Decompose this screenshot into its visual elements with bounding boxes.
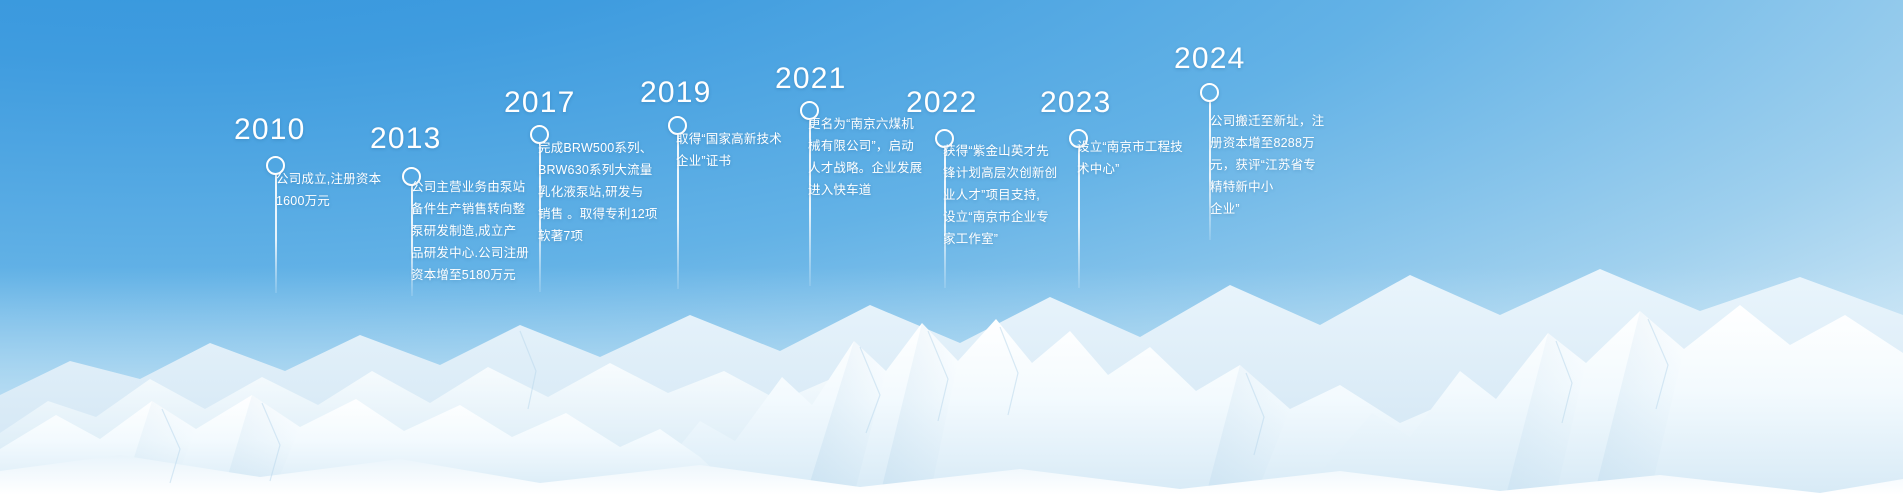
timeline-year-2023: 2023 bbox=[1040, 88, 1112, 118]
timeline-year-2022: 2022 bbox=[906, 88, 978, 118]
timeline-year-2019: 2019 bbox=[640, 78, 712, 108]
timeline-year-2010: 2010 bbox=[234, 115, 306, 145]
timeline-year-2021: 2021 bbox=[775, 64, 847, 94]
timeline-dot-2024[interactable] bbox=[1200, 83, 1219, 102]
timeline-description-2013: 公司主营业务由泵站 备件生产销售转向整 泵研发制造,成立产 品研发中心.公司注册… bbox=[411, 176, 533, 286]
timeline-description-2021: 更名为“南京六煤机 械有限公司”，启动 人才战略。企业发展 进入快车道 bbox=[808, 113, 936, 201]
timeline-track: 2010 公司成立,注册资本 1600万元 2013 公司主营业务由泵站 备件生… bbox=[0, 0, 1903, 495]
timeline-description-2023: 设立“南京市工程技 术中心” bbox=[1077, 136, 1201, 180]
timeline-description-2019: 取得“国家高新技术 企业”证书 bbox=[676, 128, 798, 172]
timeline-year-2024: 2024 bbox=[1174, 44, 1246, 74]
timeline-description-2024: 公司搬迁至新址，注 册资本增至8288万 元，获评“江苏省专 精特新中小 企业” bbox=[1210, 110, 1336, 220]
timeline-year-2013: 2013 bbox=[370, 124, 442, 154]
timeline-description-2010: 公司成立,注册资本 1600万元 bbox=[276, 168, 396, 212]
timeline-description-2022: 获得“紫金山英才先 锋计划高层次创新创 业人才”项目支持, 设立“南京市企业专 … bbox=[943, 140, 1069, 250]
timeline-infographic: 2010 公司成立,注册资本 1600万元 2013 公司主营业务由泵站 备件生… bbox=[0, 0, 1903, 495]
timeline-year-2017: 2017 bbox=[504, 88, 576, 118]
timeline-description-2017: 完成BRW500系列、 BRW630系列大流量 乳化液泵站,研发与 销售 。取得… bbox=[538, 137, 666, 247]
